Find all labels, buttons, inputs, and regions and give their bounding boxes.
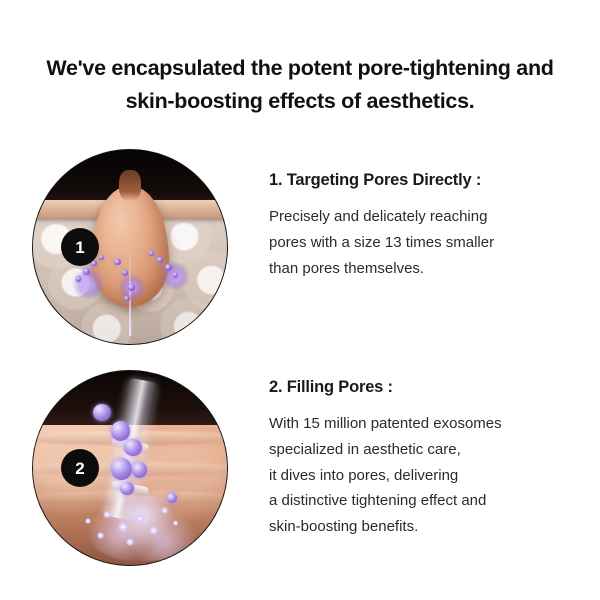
- step-1-body-line: than pores themselves.: [269, 256, 589, 282]
- step-1-text-column: 1. Targeting Pores Directly : Precisely …: [269, 171, 589, 281]
- needle-glow-left: [72, 270, 105, 299]
- step-2-title: 2. Filling Pores :: [269, 378, 589, 397]
- step-2-text-column: 2. Filling Pores : With 15 million paten…: [269, 378, 589, 540]
- particle-spark: [97, 532, 104, 539]
- particle-spark: [118, 522, 128, 532]
- particle-spark: [103, 511, 111, 519]
- exosome-bead: [111, 421, 130, 440]
- step-2-body-line: it dives into pores, delivering: [269, 463, 589, 489]
- exosome-bead: [167, 493, 177, 503]
- step-2-image-wrap: 2: [32, 370, 228, 566]
- microneedle-shaft: [129, 251, 131, 336]
- particle-spark: [149, 526, 158, 535]
- particle-spark: [161, 507, 168, 514]
- step-1-body-line: Precisely and delicately reaching: [269, 204, 589, 230]
- exosome-bead: [157, 257, 163, 263]
- exosome-bead: [111, 458, 132, 479]
- step-2-body-line: a distinctive tightening effect and: [269, 488, 589, 514]
- step-1-body: Precisely and delicately reaching pores …: [269, 204, 589, 281]
- infographic-page: We've encapsulated the potent pore-tight…: [0, 0, 600, 600]
- exosome-bead: [132, 462, 148, 478]
- step-2-body: With 15 million patented exosomes specia…: [269, 411, 589, 540]
- exosome-bead: [83, 268, 90, 275]
- step-2-body-line: With 15 million patented exosomes: [269, 411, 589, 437]
- step-1-image-wrap: 1: [32, 149, 228, 345]
- particle-spark: [126, 538, 134, 546]
- headline-line-2: skin-boosting effects of aesthetics.: [14, 85, 586, 118]
- exosome-bead: [120, 482, 134, 496]
- step-2-body-line: skin-boosting benefits.: [269, 514, 589, 540]
- step-1-body-line: pores with a size 13 times smaller: [269, 230, 589, 256]
- exosome-bead: [99, 255, 104, 260]
- exosome-bead: [128, 284, 135, 291]
- step-2-body-line: specialized in aesthetic care,: [269, 437, 589, 463]
- exosome-bead: [93, 404, 110, 421]
- headline-line-1: We've encapsulated the potent pore-tight…: [14, 52, 586, 85]
- step-2-badge: 2: [61, 449, 99, 487]
- exosome-bead: [124, 439, 141, 456]
- exosome-bead: [124, 296, 129, 301]
- exosome-bead: [165, 264, 172, 271]
- step-1-title: 1. Targeting Pores Directly :: [269, 171, 589, 190]
- particle-spark: [136, 515, 144, 523]
- page-headline: We've encapsulated the potent pore-tight…: [0, 52, 600, 117]
- step-1-badge: 1: [61, 228, 99, 266]
